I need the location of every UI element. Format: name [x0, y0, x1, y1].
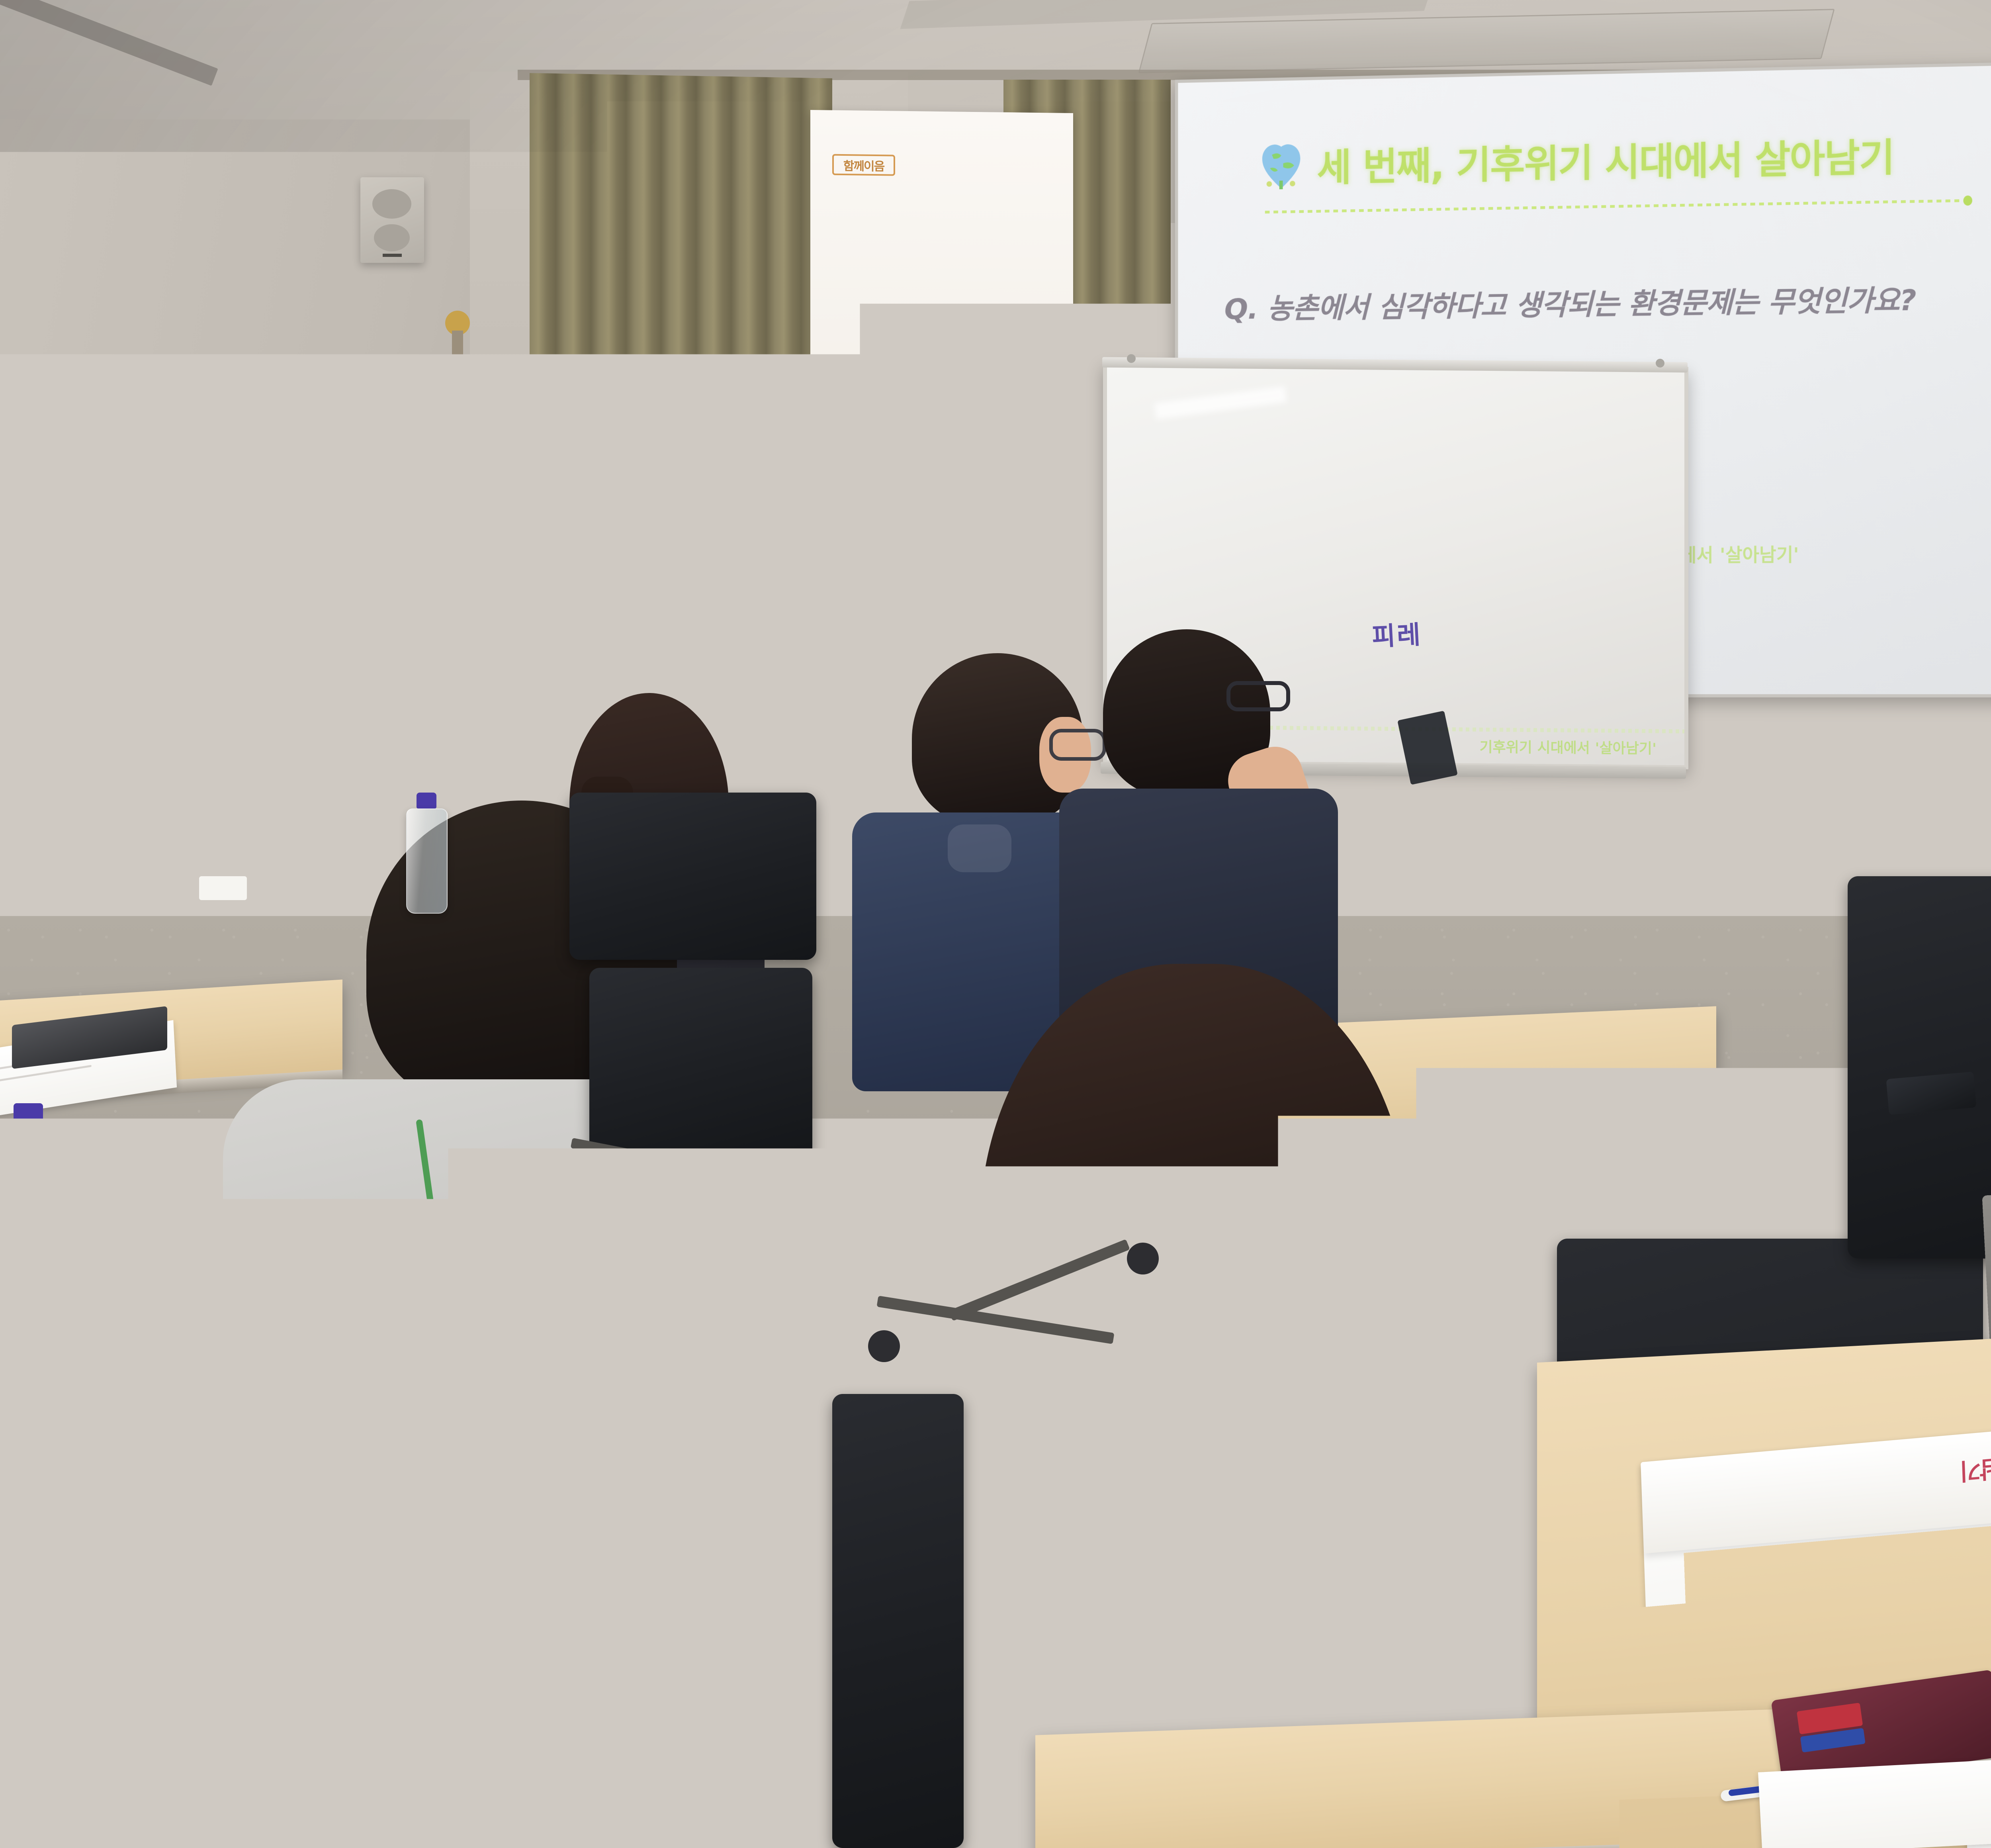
water-bottle[interactable] — [1473, 824, 1523, 984]
cup[interactable] — [199, 876, 247, 900]
slide-title: 세 번째, 기후위기 시대에서 살아남기 — [1317, 126, 1894, 192]
chair-caster — [1127, 1243, 1159, 1274]
paper-cup[interactable] — [1541, 928, 1601, 1016]
bottle-cap — [417, 793, 436, 808]
chair[interactable] — [892, 852, 1171, 1115]
flag-pole — [452, 331, 463, 450]
phone[interactable] — [1203, 1008, 1306, 1051]
open-handout-booklet[interactable]: 살아남기 — [1641, 1422, 1991, 1693]
whiteboard-clip — [1656, 359, 1664, 368]
whiteboard-clip — [1127, 354, 1136, 363]
lecture-room-photo: 세 번째, 기후위기 시대에서 살아남기 Q. 농촌에서 심각하다고 생각되는 … — [0, 0, 1991, 1848]
flower-icon — [1025, 368, 1041, 384]
chair-frame — [912, 1107, 1135, 1121]
flower-icon — [848, 385, 869, 406]
banner-left-title: 마을공동체 — [810, 568, 1073, 623]
flower-icon — [942, 362, 966, 388]
water-bottle[interactable] — [406, 793, 446, 912]
fan-illustration — [378, 1101, 436, 1159]
banner-village-community: 함께이음 주민과 함께 성장하는 마을공동체 — [810, 110, 1073, 742]
chair[interactable] — [832, 1394, 964, 1848]
hair-bun — [237, 635, 273, 671]
cup-print — [1555, 966, 1587, 998]
whiteboard-glare — [1154, 386, 1287, 419]
note-page[interactable] — [1758, 1756, 1991, 1848]
slide-title-row: 세 번째, 기후위기 시대에서 살아남기 — [1259, 126, 1894, 193]
remote-control[interactable] — [1886, 1072, 1976, 1115]
wheat-icon — [1445, 786, 1469, 838]
bottle-neck — [25, 832, 42, 847]
face — [275, 675, 325, 741]
bottle-cap — [1485, 824, 1510, 844]
chair[interactable] — [1848, 876, 1991, 1259]
chair-leg-area — [0, 1701, 88, 1848]
tshirt-print — [697, 1195, 788, 1251]
projected-text-overlap: 기후위기 시대에서 '살아남기' — [1479, 736, 1657, 758]
small-book[interactable] — [1453, 917, 1529, 954]
bottle-neck — [125, 836, 141, 850]
bottle-neck — [18, 1125, 40, 1142]
lanyard — [269, 739, 273, 795]
eyeglass-case[interactable] — [1386, 1000, 1505, 1052]
banner-left-logo: 함께이음 — [832, 154, 895, 176]
wooden-block — [147, 904, 195, 940]
chair[interactable] — [569, 793, 816, 960]
speaker-icon — [360, 177, 424, 263]
flower-icon — [882, 350, 899, 367]
chair-caster — [868, 1330, 900, 1362]
glasses-icon — [1294, 554, 1338, 581]
banner-left-subtitle: 주민과 함께 성장하는 — [810, 536, 1073, 566]
earth-heart-icon — [1259, 139, 1304, 191]
bottle-cap — [123, 820, 143, 837]
bottle-cap — [14, 1103, 43, 1126]
bottle-body — [406, 808, 448, 914]
bottle-cap — [23, 816, 45, 833]
glasses-icon — [1226, 681, 1290, 711]
chair[interactable] — [589, 968, 812, 1159]
